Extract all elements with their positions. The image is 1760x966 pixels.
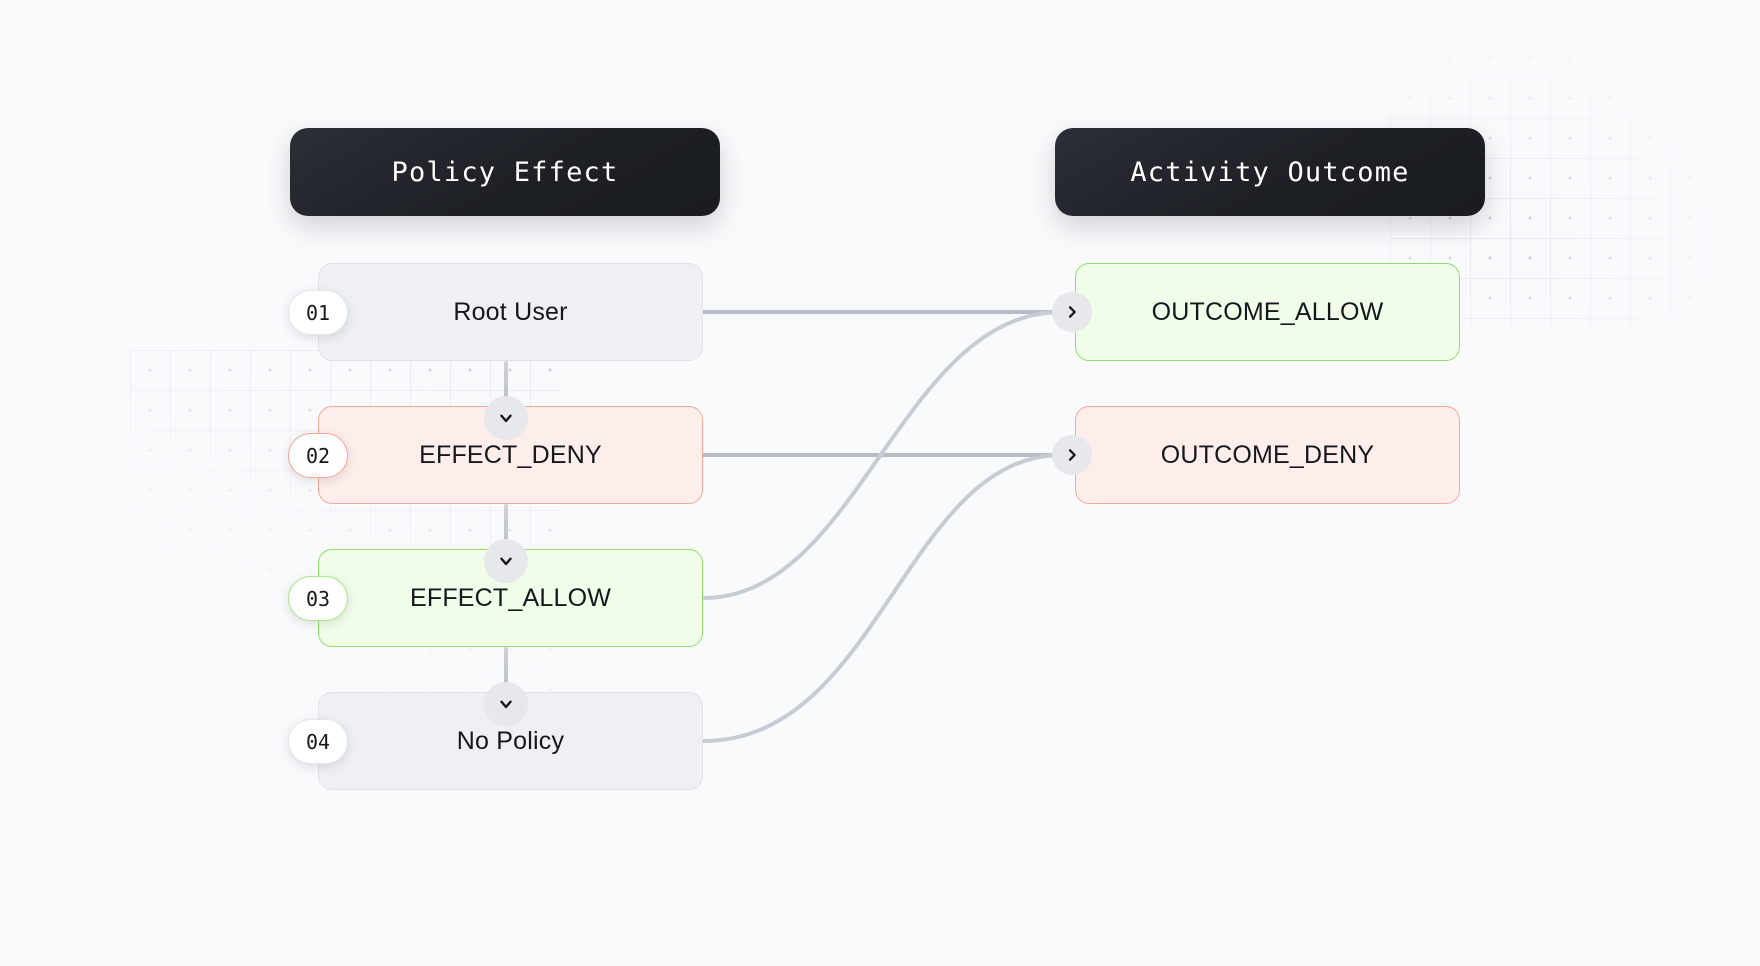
step-badge-03: 03 xyxy=(288,576,348,621)
chevron-right-icon[interactable] xyxy=(1052,292,1092,332)
node-outcome-deny[interactable]: OUTCOME_DENY xyxy=(1075,406,1460,504)
chevron-down-icon[interactable] xyxy=(484,539,528,583)
edge-layer xyxy=(0,0,1760,966)
node-outcome-allow-label: OUTCOME_ALLOW xyxy=(1152,298,1384,327)
column-header-activity-outcome: Activity Outcome xyxy=(1055,128,1485,216)
node-root-user[interactable]: Root User xyxy=(318,263,703,361)
step-badge-02: 02 xyxy=(288,433,348,478)
column-header-activity-outcome-label: Activity Outcome xyxy=(1130,157,1409,188)
chevron-down-icon[interactable] xyxy=(484,396,528,440)
step-badge-04: 04 xyxy=(288,719,348,764)
step-badge-01-label: 01 xyxy=(306,301,330,325)
diagram-canvas: Policy Effect Activity Outcome Root User… xyxy=(0,0,1760,966)
node-effect-allow-label: EFFECT_ALLOW xyxy=(410,584,611,613)
chevron-down-icon[interactable] xyxy=(484,682,528,726)
edge-no-policy-to-outcome-deny xyxy=(703,455,1062,741)
column-header-policy-effect: Policy Effect xyxy=(290,128,720,216)
node-outcome-deny-label: OUTCOME_DENY xyxy=(1161,441,1375,470)
step-badge-04-label: 04 xyxy=(306,730,330,754)
node-outcome-allow[interactable]: OUTCOME_ALLOW xyxy=(1075,263,1460,361)
step-badge-03-label: 03 xyxy=(306,587,330,611)
chevron-right-icon[interactable] xyxy=(1052,435,1092,475)
node-no-policy-label: No Policy xyxy=(457,727,564,756)
edge-effect-allow-to-outcome-allow xyxy=(703,312,1062,598)
step-badge-02-label: 02 xyxy=(306,444,330,468)
node-root-user-label: Root User xyxy=(453,298,567,327)
node-effect-deny-label: EFFECT_DENY xyxy=(419,441,602,470)
step-badge-01: 01 xyxy=(288,290,348,335)
column-header-policy-effect-label: Policy Effect xyxy=(392,157,619,188)
